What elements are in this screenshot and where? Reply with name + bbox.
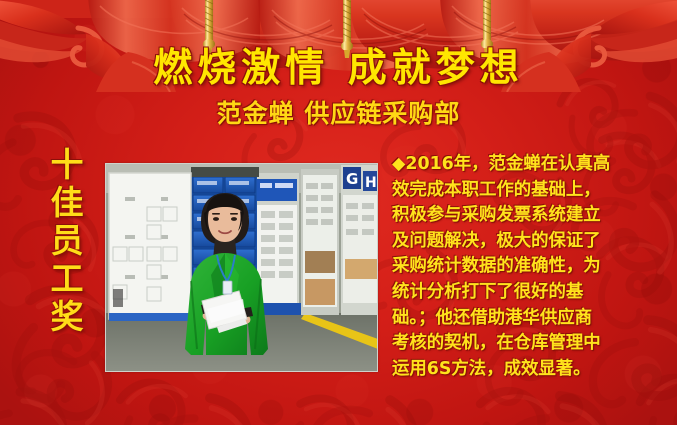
body-line: 统计分析打下了很好的基 (392, 280, 672, 306)
achievement-description: ◆2016年，范金蝉在认真高 效完成本职工作的基础上， 积极参与采购发票系统建立… (392, 152, 672, 382)
body-line: 效完成本职工作的基础上， (392, 178, 672, 204)
body-line: 及问题解决，极大的保证了 (392, 229, 672, 255)
employee-photo-image: G H (105, 163, 378, 372)
page-subtitle: 范金蝉 供应链采购部 (0, 94, 677, 130)
svg-text:G: G (346, 170, 358, 188)
award-slide: 燃烧激情 成就梦想 范金蝉 供应链采购部 十佳员工奖 (0, 0, 677, 425)
svg-text:H: H (365, 175, 377, 191)
body-line: 运用6S方法，成效显著。 (392, 357, 672, 383)
body-line: 采购统计数据的准确性，为 (392, 254, 672, 280)
award-vertical-label: 十佳员工奖 (46, 147, 88, 337)
page-title: 燃烧激情 成就梦想 (0, 37, 677, 93)
body-line: 础。；他还借助港华供应商 (392, 306, 672, 332)
body-line: 考核的契机，在仓库管理中 (392, 331, 672, 357)
employee-photo: G H (105, 163, 378, 372)
body-line: ◆2016年，范金蝉在认真高 (392, 152, 672, 178)
body-line: 积极参与采购发票系统建立 (392, 203, 672, 229)
